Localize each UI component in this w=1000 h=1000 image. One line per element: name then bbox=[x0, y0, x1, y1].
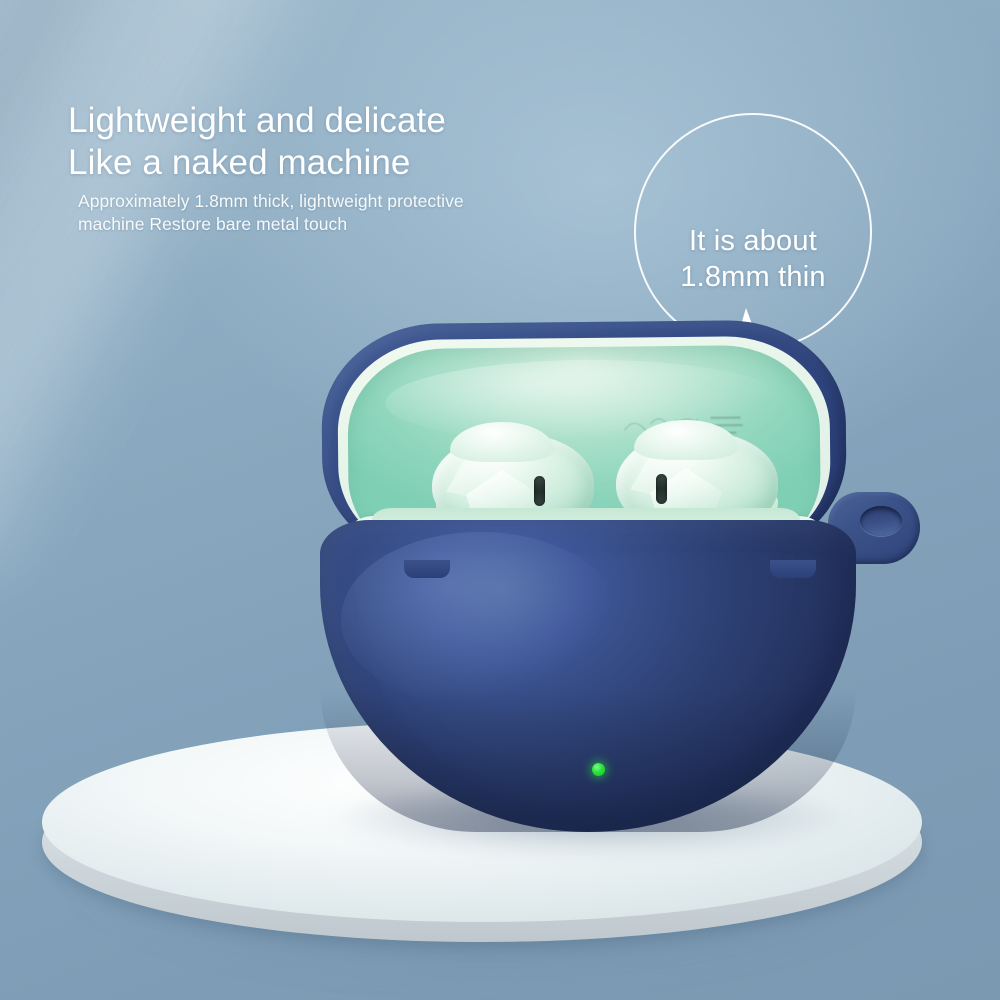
earbud-speaker-slot-icon bbox=[534, 476, 545, 506]
subtitle-line-1: Approximately 1.8mm thick, lightweight p… bbox=[78, 190, 598, 213]
product-banner: Lightweight and delicate Like a naked ma… bbox=[0, 0, 1000, 1000]
tray-notch-right bbox=[770, 560, 816, 578]
headline-line-1: Lightweight and delicate bbox=[68, 100, 628, 142]
tray-notch-left bbox=[404, 560, 450, 578]
light-streak-icon bbox=[0, 0, 260, 638]
status-led-indicator bbox=[592, 763, 605, 776]
callout-line-2: 1.8mm thin bbox=[680, 259, 825, 295]
case-body-highlight bbox=[341, 532, 620, 707]
case-body-shading bbox=[320, 688, 856, 832]
headline: Lightweight and delicate Like a naked ma… bbox=[68, 100, 628, 184]
earbud-top-nub bbox=[450, 422, 554, 462]
earbud-speaker-slot-icon bbox=[656, 474, 667, 504]
callout-line-1: It is about bbox=[689, 223, 817, 259]
earbud-top-nub bbox=[634, 420, 738, 460]
headline-line-2: Like a naked machine bbox=[68, 142, 628, 184]
shadow-streak-icon bbox=[0, 0, 209, 599]
thickness-callout-badge: It is about 1.8mm thin bbox=[634, 113, 872, 351]
subtitle: Approximately 1.8mm thick, lightweight p… bbox=[78, 190, 598, 236]
subtitle-line-2: machine Restore bare metal touch bbox=[78, 213, 598, 236]
keychain-lug-hole-icon bbox=[860, 506, 902, 536]
